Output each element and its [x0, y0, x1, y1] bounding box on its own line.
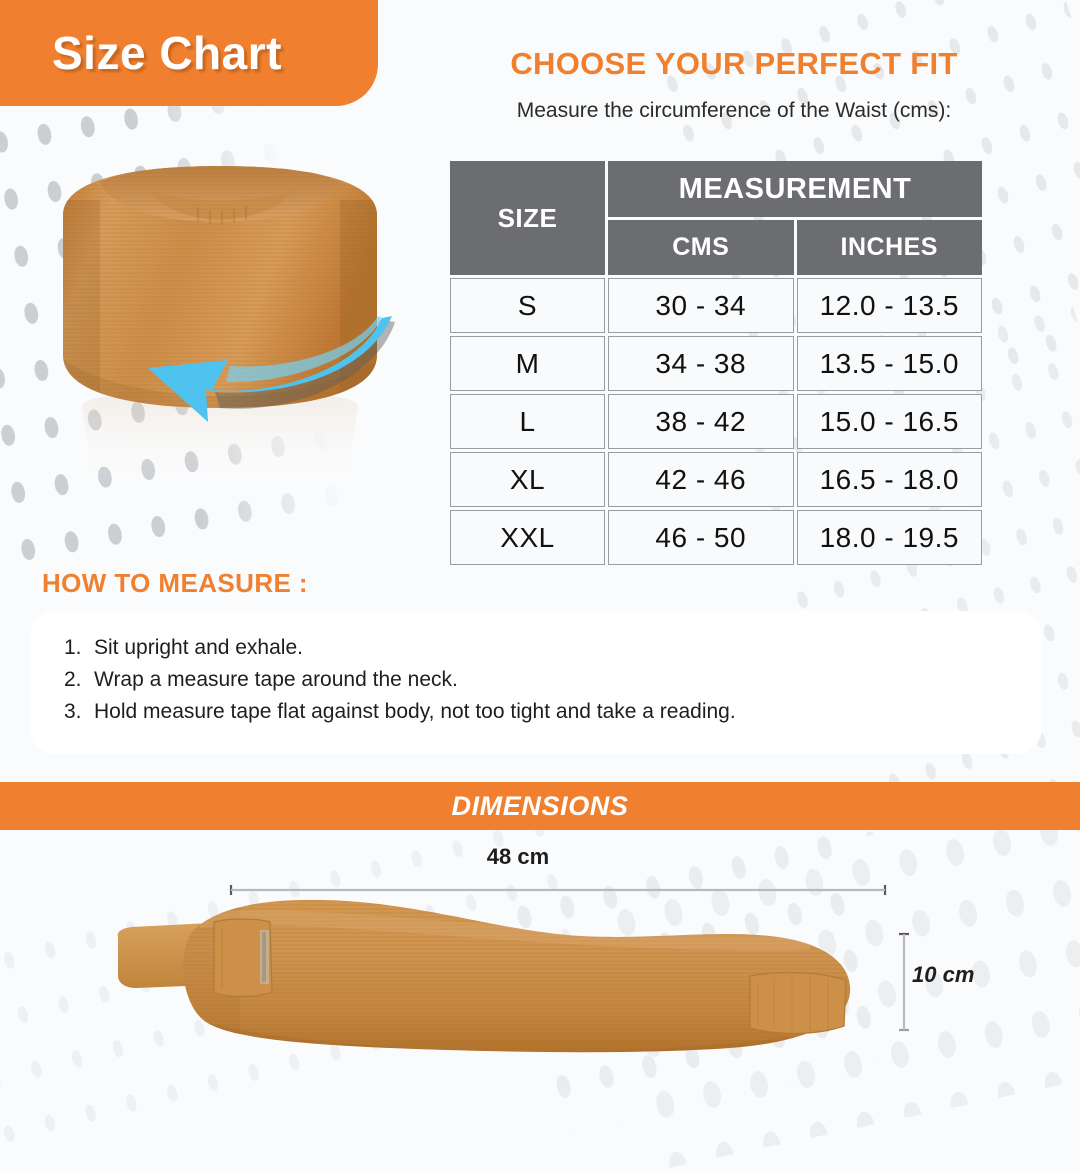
- cell-inches: 13.5 - 15.0: [797, 336, 983, 391]
- height-dimension-label: 10 cm: [912, 962, 974, 988]
- table-header-measurement: MEASUREMENT: [608, 161, 982, 217]
- how-to-measure-list: 1. Sit upright and exhale. 2. Wrap a mea…: [64, 632, 1042, 728]
- collar-velcro-patch-right: [750, 973, 846, 1034]
- cell-cms: 38 - 42: [608, 394, 794, 449]
- cell-size: S: [450, 278, 605, 333]
- table-header-cms: CMS: [608, 220, 794, 275]
- cell-cms: 42 - 46: [608, 452, 794, 507]
- list-item-number: 2.: [64, 664, 86, 696]
- list-item: 2. Wrap a measure tape around the neck.: [64, 664, 1042, 696]
- collar-hook-tab-left: [214, 919, 272, 997]
- how-to-measure-card: 1. Sit upright and exhale. 2. Wrap a mea…: [30, 611, 1042, 754]
- list-item-text: Wrap a measure tape around the neck.: [94, 664, 458, 696]
- table-row: S 30 - 34 12.0 - 13.5: [450, 278, 982, 333]
- list-item: 3. Hold measure tape flat against body, …: [64, 696, 1042, 728]
- size-chart-title-banner: Size Chart: [0, 0, 378, 106]
- cell-inches: 15.0 - 16.5: [797, 394, 983, 449]
- table-row: M 34 - 38 13.5 - 15.0: [450, 336, 982, 391]
- cell-cms: 34 - 38: [608, 336, 794, 391]
- header-block: CHOOSE YOUR PERFECT FIT Measure the circ…: [434, 46, 1034, 123]
- cell-size: XXL: [450, 510, 605, 565]
- width-dimension-label: 48 cm: [0, 844, 1080, 870]
- cervical-collar-front-icon: [30, 160, 410, 490]
- list-item-number: 1.: [64, 632, 86, 664]
- cervical-collar-flat-icon: [110, 892, 900, 1062]
- cell-cms: 30 - 34: [608, 278, 794, 333]
- list-item-text: Sit upright and exhale.: [94, 632, 303, 664]
- list-item-number: 3.: [64, 696, 86, 728]
- how-to-measure-title: HOW TO MEASURE :: [42, 568, 308, 599]
- table-header-inches: INCHES: [797, 220, 983, 275]
- table-header-size: SIZE: [450, 161, 605, 275]
- cell-size: L: [450, 394, 605, 449]
- table-row: XXL 46 - 50 18.0 - 19.5: [450, 510, 982, 565]
- size-chart-table: SIZE MEASUREMENT CMS INCHES S 30 - 34 12…: [447, 158, 985, 568]
- cell-size: XL: [450, 452, 605, 507]
- table-row: XL 42 - 46 16.5 - 18.0: [450, 452, 982, 507]
- page-title: Size Chart: [52, 26, 282, 80]
- cell-inches: 18.0 - 19.5: [797, 510, 983, 565]
- subheadline: Measure the circumference of the Waist (…: [434, 99, 1034, 123]
- cell-inches: 12.0 - 13.5: [797, 278, 983, 333]
- table-row: L 38 - 42 15.0 - 16.5: [450, 394, 982, 449]
- list-item-text: Hold measure tape flat against body, not…: [94, 696, 736, 728]
- table-header-row-1: SIZE MEASUREMENT: [450, 161, 982, 217]
- cell-size: M: [450, 336, 605, 391]
- table-body: S 30 - 34 12.0 - 13.5 M 34 - 38 13.5 - 1…: [450, 278, 982, 565]
- cell-cms: 46 - 50: [608, 510, 794, 565]
- list-item: 1. Sit upright and exhale.: [64, 632, 1042, 664]
- dimensions-banner-label: DIMENSIONS: [451, 791, 628, 822]
- dimensions-banner: DIMENSIONS: [0, 782, 1080, 830]
- cell-inches: 16.5 - 18.0: [797, 452, 983, 507]
- headline: CHOOSE YOUR PERFECT FIT: [434, 46, 1034, 82]
